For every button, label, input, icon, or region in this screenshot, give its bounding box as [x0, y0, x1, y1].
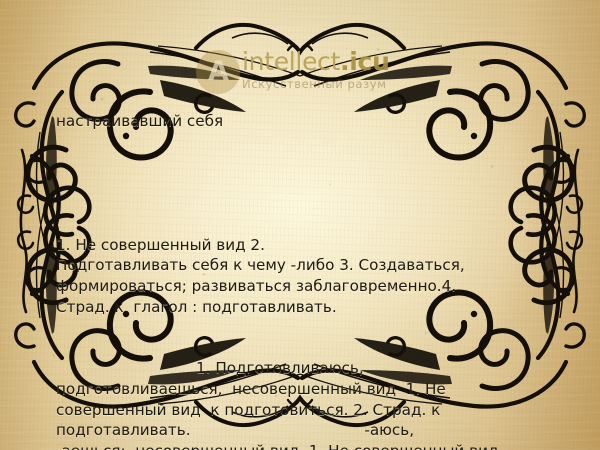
document-block-1: 1. Не совершенный вид 2. Подготавливать … [56, 235, 556, 317]
parchment-page: A intellect.icu Искусственный разум наст… [0, 0, 600, 450]
document-heading: настраивавший себя [56, 111, 556, 132]
side-ornament-right [567, 150, 582, 312]
document-text: настраивавший себя 1. Не совершенный вид… [56, 70, 556, 450]
edge-ornament-top [196, 25, 404, 52]
side-ornament-left [18, 150, 33, 312]
paragraph-spacer [56, 173, 556, 194]
document-block-2: 1. Подготовливаюсь, подготовливаешься, н… [56, 358, 556, 450]
